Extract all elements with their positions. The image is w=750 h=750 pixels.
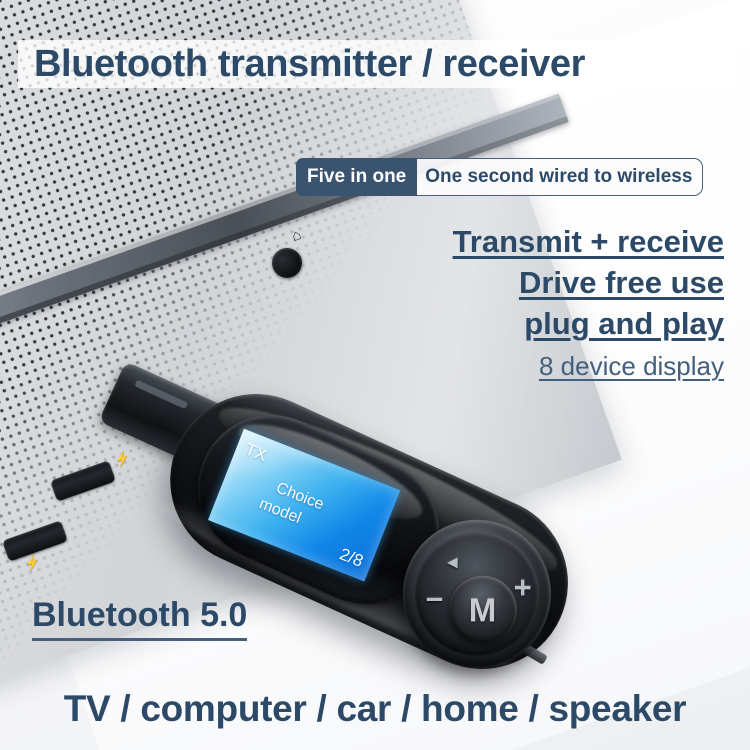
feature-line-3: plug and play (304, 304, 724, 345)
feature-line-2: Drive free use (304, 263, 724, 304)
bluetooth-version-label: Bluetooth 5.0 (32, 596, 247, 641)
volume-up-button[interactable]: + (513, 572, 531, 603)
previous-button[interactable]: ◂ (448, 553, 458, 572)
compatibility-footer: TV / computer / car / home / speaker (0, 688, 750, 730)
product-marketing-image: ⌂ ⚡ ⚡ TX Choice model 2/8 + – (0, 0, 750, 750)
lcd-page-indicator: 2/8 (337, 544, 366, 571)
mode-button-label: M (469, 593, 497, 626)
page-title: Bluetooth transmitter / receiver (34, 40, 734, 88)
five-in-one-badge: Five in one One second wired to wireless (296, 158, 703, 196)
badge-box-label: One second wired to wireless (417, 158, 703, 196)
lcd-mode-label: TX (242, 440, 270, 467)
usb-connector-slot (134, 380, 188, 410)
badge-pill-label: Five in one (296, 158, 417, 196)
feature-list: Transmit + receive Drive free use plug a… (304, 222, 724, 386)
feature-subline: 8 device display (304, 347, 724, 386)
volume-down-button[interactable]: – (426, 581, 443, 612)
feature-line-1: Transmit + receive (304, 222, 724, 263)
